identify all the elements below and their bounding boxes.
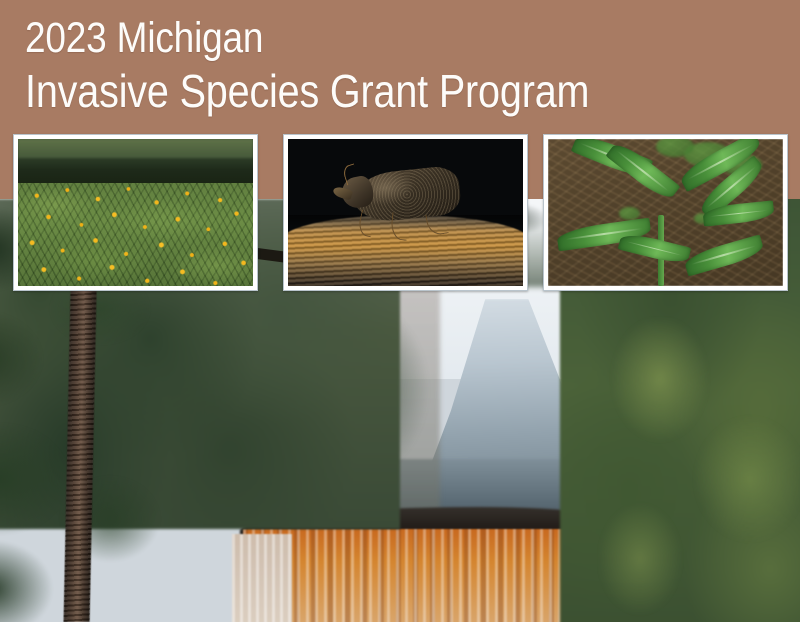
invasive-beetle-photo bbox=[283, 134, 528, 291]
invasive-aquatic-plant-photo bbox=[13, 134, 258, 291]
poster: 2023 Michigan Invasive Species Grant Pro… bbox=[0, 0, 800, 622]
background-foliage bbox=[656, 139, 694, 157]
yellow-flowers bbox=[18, 180, 253, 286]
waterfall-left-edge bbox=[232, 534, 292, 622]
right-forest-highlights bbox=[600, 319, 800, 619]
invasive-grass-photo bbox=[543, 134, 788, 291]
far-shore bbox=[18, 139, 253, 158]
background-foliage bbox=[619, 207, 640, 220]
